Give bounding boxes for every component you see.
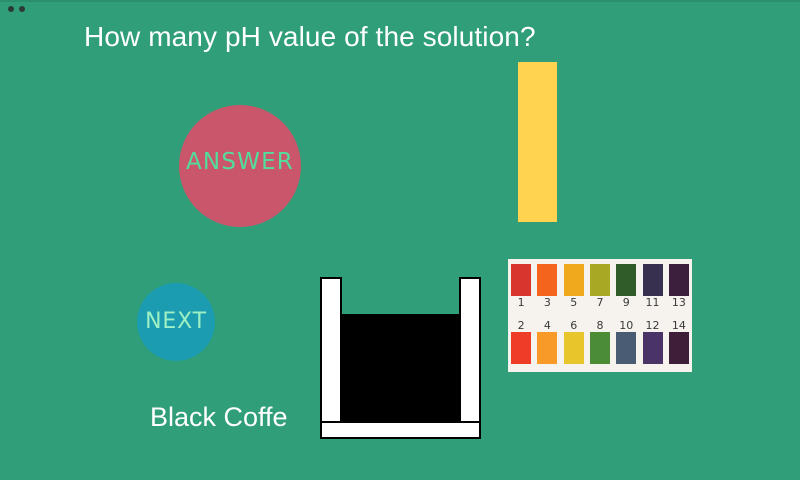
ph-chart-swatch [511,332,531,364]
ph-chart-swatch [564,332,584,364]
substance-label: Black Coffe [150,402,288,433]
window-titlebar [0,0,800,15]
ph-test-strip[interactable] [518,62,557,222]
ph-chart-cell: 9 [616,264,636,309]
ph-chart-cell: 7 [590,264,610,309]
ph-chart-cell: 14 [669,319,689,364]
ph-chart-swatch [643,332,663,364]
ph-chart-cell: 10 [616,319,636,364]
beaker-liquid [340,314,461,421]
ph-chart-swatch [616,264,636,296]
ph-chart-swatch [590,332,610,364]
ph-chart-swatch [616,332,636,364]
ph-chart-cell: 8 [590,319,610,364]
ph-chart-cell: 1 [511,264,531,309]
ph-chart-swatch [669,264,689,296]
ph-chart-swatch [590,264,610,296]
ph-chart-cell: 2 [511,319,531,364]
ph-chart-value: 13 [672,296,686,309]
ph-chart-cell: 11 [643,264,663,309]
ph-chart-cell: 12 [643,319,663,364]
ph-chart-value: 4 [544,319,551,332]
ph-chart-cell: 3 [537,264,557,309]
beaker-wall-right [459,277,481,439]
ph-chart-swatch [537,332,557,364]
ph-chart-value: 7 [596,296,603,309]
ph-chart-value: 11 [646,296,660,309]
ph-chart-value: 14 [672,319,686,332]
ph-chart-value: 5 [570,296,577,309]
ph-chart-odd-row: 135791113 [508,264,692,314]
ph-chart-value: 9 [623,296,630,309]
ph-chart-value: 2 [518,319,525,332]
ph-chart-swatch [669,332,689,364]
ph-chart-cell: 13 [669,264,689,309]
ph-chart-swatch [643,264,663,296]
ph-chart-value: 3 [544,296,551,309]
ph-chart-value: 12 [646,319,660,332]
ph-chart-value: 6 [570,319,577,332]
page-title: How many pH value of the solution? [84,21,536,53]
ph-reference-chart[interactable]: 135791113 2468101214 [508,259,692,372]
ph-chart-cell: 4 [537,319,557,364]
ph-chart-value: 1 [518,296,525,309]
next-button-label: NEXT [137,309,215,334]
ph-chart-cell: 5 [564,264,584,309]
ph-chart-value: 10 [619,319,633,332]
ph-chart-even-row: 2468101214 [508,319,692,369]
ph-chart-swatch [564,264,584,296]
ph-chart-swatch [537,264,557,296]
beaker[interactable] [320,277,481,439]
answer-button-label: ANSWER [179,149,301,175]
beaker-base [320,421,481,439]
beaker-wall-left [320,277,342,439]
ph-chart-swatch [511,264,531,296]
ph-chart-value: 8 [596,319,603,332]
window-dot-left-icon[interactable] [8,6,14,12]
next-button[interactable]: NEXT [137,283,215,361]
ph-chart-cell: 6 [564,319,584,364]
answer-button[interactable]: ANSWER [179,105,301,227]
window-dot-right-icon[interactable] [19,6,25,12]
